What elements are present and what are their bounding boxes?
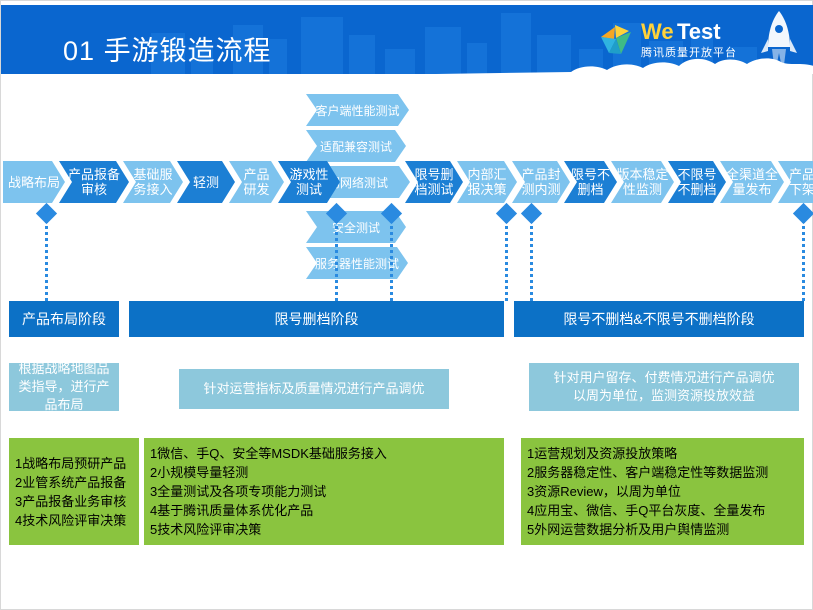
- flow-step-label: 产品研发: [229, 167, 284, 197]
- flow-step-label: 限号不删档: [564, 167, 617, 197]
- flow-step[interactable]: 战略布局: [3, 161, 65, 203]
- logo-test-text: Test: [677, 19, 721, 45]
- detail-list-item: 4基于腾讯质量体系优化产品: [150, 501, 498, 520]
- test-branch-label: 适配兼容测试: [320, 138, 392, 155]
- detail-list-box: 1微信、手Q、安全等MSDK基础服务接入2小规模导量轻测3全量测试及各项专项能力…: [144, 438, 504, 545]
- connector-line: [802, 214, 808, 301]
- detail-list-box: 1运营规划及资源投放策略2服务器稳定性、客户端稳定性等数据监测3资源Review…: [521, 438, 804, 545]
- test-branch-item[interactable]: 适配兼容测试: [306, 130, 406, 162]
- flow-step-label: 战略布局: [3, 175, 65, 190]
- stage-description-text: 针对用户留存、付费情况进行产品调优以周为单位，监测资源投放效益: [553, 369, 774, 405]
- connector-line: [335, 214, 341, 301]
- detail-list-item: 1微信、手Q、安全等MSDK基础服务接入: [150, 444, 498, 463]
- flow-step-label: 基础服务接入: [123, 167, 183, 197]
- connector-line: [530, 214, 536, 301]
- detail-list-item: 3全量测试及各项专项能力测试: [150, 482, 498, 501]
- detail-list-item: 4应用宝、微信、手Q平台灰度、全量发布: [527, 501, 798, 520]
- detail-list-box: 1战略布局预研产品2业管系统产品报备3产品报备业务审核4技术风险评审决策: [9, 438, 139, 545]
- flow-step-label: 全渠道全量发布: [720, 167, 784, 197]
- connector-line: [505, 214, 511, 301]
- stage-bar-label: 限号删档阶段: [275, 309, 359, 329]
- connector-line: [390, 214, 396, 301]
- flow-step[interactable]: 全渠道全量发布: [720, 161, 784, 203]
- detail-list: 1战略布局预研产品2业管系统产品报备3产品报备业务审核4技术风险评审决策: [9, 454, 139, 530]
- flow-step[interactable]: 产品研发: [229, 161, 284, 203]
- detail-list-item: 1战略布局预研产品: [15, 454, 133, 473]
- detail-list-item: 4技术风险评审决策: [15, 511, 133, 530]
- stage-bar-label: 限号不删档&不限号不删档阶段: [563, 309, 754, 329]
- flow-step[interactable]: 游戏性测试: [278, 161, 340, 203]
- flow-step[interactable]: 版本稳定性监测: [611, 161, 674, 203]
- connector-diamond-marker: [496, 203, 517, 224]
- logo-we-text: We: [641, 19, 674, 45]
- stage-bar[interactable]: 产品布局阶段: [9, 301, 119, 337]
- detail-list-item: 3产品报备业务审核: [15, 492, 133, 511]
- stage-bar[interactable]: 限号不删档&不限号不删档阶段: [514, 301, 804, 337]
- test-branch-label: 服务器性能测试: [315, 255, 399, 272]
- flow-step[interactable]: 基础服务接入: [123, 161, 183, 203]
- stage-bar-label: 产品布局阶段: [22, 309, 106, 329]
- test-branch-label: 客户端性能测试: [315, 102, 399, 119]
- flow-step-label: 产品报备审核: [59, 167, 129, 197]
- flow-step-label: 不限号不删档: [668, 167, 726, 197]
- detail-list-item: 2业管系统产品报备: [15, 473, 133, 492]
- connector-line: [45, 214, 51, 301]
- flow-step-label: 限号删档测试: [405, 167, 463, 197]
- detail-list-item: 5技术风险评审决策: [150, 520, 498, 539]
- flow-step[interactable]: 内部汇报决策: [457, 161, 517, 203]
- flow-step[interactable]: 轻测: [177, 161, 235, 203]
- detail-list-item: 2小规模导量轻测: [150, 463, 498, 482]
- flow-step-label: 内部汇报决策: [457, 167, 517, 197]
- detail-list-item: 1运营规划及资源投放策略: [527, 444, 798, 463]
- detail-list: 1微信、手Q、安全等MSDK基础服务接入2小规模导量轻测3全量测试及各项专项能力…: [144, 444, 504, 539]
- flow-step-label: 产品封测内测: [512, 167, 570, 197]
- connector-diamond-marker: [521, 203, 542, 224]
- flow-step[interactable]: 产品封测内测: [512, 161, 570, 203]
- detail-list: 1运营规划及资源投放策略2服务器稳定性、客户端稳定性等数据监测3资源Review…: [521, 444, 804, 539]
- stage-description-text: 针对运营指标及质量情况进行产品调优: [203, 380, 424, 398]
- detail-list-item: 3资源Review，以周为单位: [527, 482, 798, 501]
- flow-step[interactable]: 产品报备审核: [59, 161, 129, 203]
- test-branch-item[interactable]: 客户端性能测试: [306, 94, 409, 126]
- flow-step[interactable]: 不限号不删档: [668, 161, 726, 203]
- header-banner: 01 手游锻造流程 We Test 腾讯质量开放平台: [1, 5, 813, 74]
- connector-diamond-marker: [36, 203, 57, 224]
- flow-step[interactable]: 限号删档测试: [405, 161, 463, 203]
- stage-description-box: 针对用户留存、付费情况进行产品调优以周为单位，监测资源投放效益: [529, 363, 799, 411]
- stage-description-text: 根据战略地图品类指导，进行产品布局: [15, 360, 113, 414]
- cloud-graphic: [1, 52, 813, 74]
- connector-diamond-marker: [793, 203, 813, 224]
- stage-description-box: 根据战略地图品类指导，进行产品布局: [9, 363, 119, 411]
- flow-step-label: 版本稳定性监测: [611, 167, 674, 197]
- slide-canvas: 01 手游锻造流程 We Test 腾讯质量开放平台: [0, 0, 813, 610]
- stage-bar[interactable]: 限号删档阶段: [129, 301, 504, 337]
- flow-step[interactable]: 限号不删档: [564, 161, 617, 203]
- flow-step-label: 轻测: [177, 175, 235, 190]
- stage-description-box: 针对运营指标及质量情况进行产品调优: [179, 369, 449, 409]
- detail-list-item: 2服务器稳定性、客户端稳定性等数据监测: [527, 463, 798, 482]
- flow-step-label: 游戏性测试: [278, 167, 340, 197]
- detail-list-item: 5外网运营数据分析及用户舆情监测: [527, 520, 798, 539]
